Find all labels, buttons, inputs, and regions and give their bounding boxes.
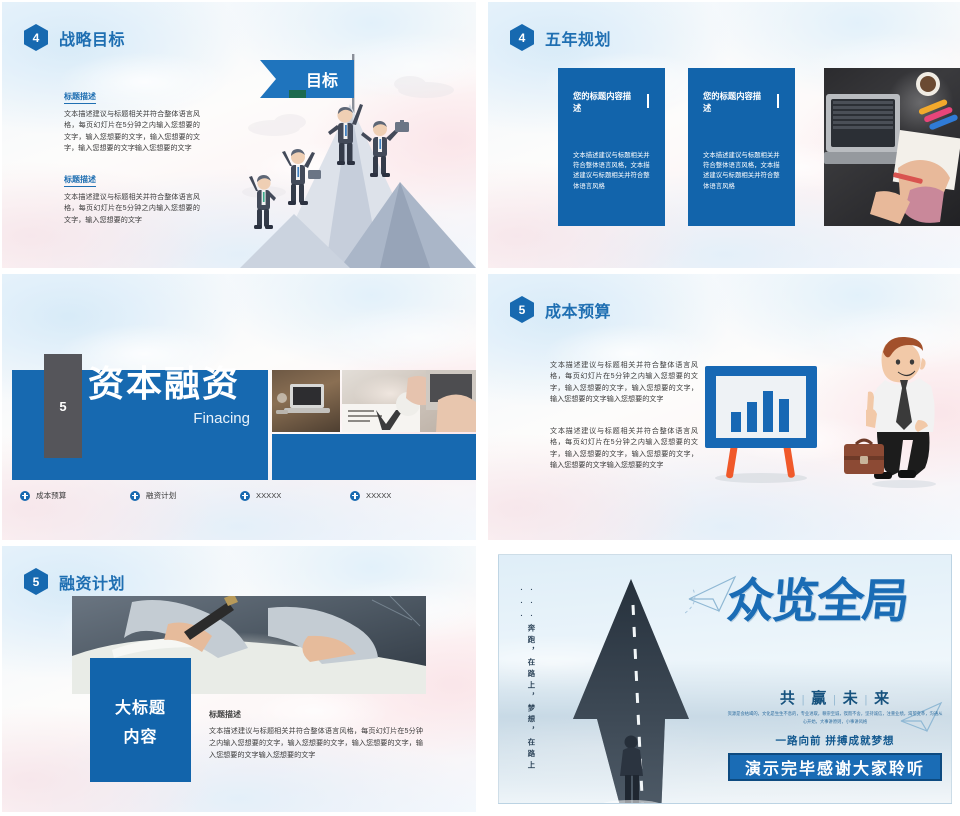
section-number-tab: 5 [44,354,82,458]
text-column: 标题描述 文本描述建议与标题相关并符合整体语言风格，每页幻灯片在5分钟之内输入您… [64,86,200,226]
card-title: 您的标题内容描述 [703,90,765,115]
page-title: 战略目标 [59,26,125,50]
slide-five-year-plan[interactable]: 4 五年规划 您的标题内容描述 文本描述建议与标题相关并符合整体语言风格，文本描… [488,2,960,268]
win-char-4: 来 [870,691,896,707]
page-title: 成本预算 [545,298,611,322]
plus-icon [350,491,360,501]
vertical-slogan: ···奔跑，在路上，梦想，在路上··· [517,585,537,781]
slide-header: 4 五年规划 [510,24,611,51]
fine-print: 资源是会枯竭的，文化是生生不息的，专业进取，尊崇至诚，锲而不舍，坚持诚信，注重业… [727,710,943,725]
nav-item-4[interactable]: XXXXX [350,490,460,501]
hexagon-number-badge: 4 [510,24,534,51]
desk-laptop-photo [824,68,960,226]
block-body: 文本描述建议与标题相关并符合整体语言风格，每页幻灯片在5分钟之内输入您想要的文字… [64,192,200,226]
slide-header: 5 融资计划 [24,568,125,595]
section-nav: 成本预算 融资计划 XXXXX XXXXX [20,490,460,501]
block-heading: 标题描述 [209,709,423,720]
easel-bar-chart-illustration [701,362,821,486]
win-char-2: 赢 [807,691,833,707]
section-band-secondary [272,434,476,480]
calligraphy-title: 众览全局 [727,579,943,685]
big-title-line2: 内容 [123,723,157,747]
nav-label: 融资计划 [146,490,176,501]
svg-text:目标: 目标 [306,72,338,90]
big-title-box: 大标题 内容 [90,658,191,782]
slide-frame: ···奔跑，在路上，梦想，在路上··· 众览全局 共|赢|未|来 资源是会枯竭的… [498,554,952,804]
hands-documents-photo [342,370,476,432]
paragraph: 文本描述建议与标题相关并符合整体语言风格，每页幻灯片在5分钟之内输入您想要的文字… [550,360,698,406]
slogan: 一路向前 拼搏成就梦想 [727,733,943,748]
page-title: 融资计划 [59,570,125,594]
slide-capital-financing[interactable]: 5 资本融资 Finacing [2,274,476,540]
page-title: 五年规划 [545,26,611,50]
nav-item-cost-budget[interactable]: 成本预算 [20,490,130,501]
win-future-row: 共|赢|未|来 [737,687,935,708]
slide-strategic-goal[interactable]: 4 战略目标 目标 [2,2,476,268]
paragraph: 文本描述建议与标题相关并符合整体语言风格，每页幻灯片在5分钟之内输入您想要的文字… [550,426,698,472]
win-char-1: 共 [776,691,802,707]
hexagon-number-badge: 5 [510,296,534,323]
plus-icon [130,491,140,501]
card-title: 您的标题内容描述 [573,90,635,115]
nav-item-3[interactable]: XXXXX [240,490,350,501]
card-body: 文本描述建议与标题相关并符合整体语言风格，文本描述建议与标题相关并符合整体语言风… [573,151,655,193]
laptop-photo [272,370,340,432]
hexagon-number-badge: 4 [24,24,48,51]
win-char-3: 未 [839,691,865,707]
content-card[interactable]: 您的标题内容描述 文本描述建议与标题相关并符合整体语言风格，文本描述建议与标题相… [688,68,795,226]
content-card[interactable]: 您的标题内容描述 文本描述建议与标题相关并符合整体语言风格，文本描述建议与标题相… [558,68,665,226]
calligraphy-text: 众览全局 [725,579,945,626]
section-title-cn: 资本融资 [88,366,240,402]
nav-label: XXXXX [256,491,281,500]
section-title-en: Finacing [88,410,250,427]
slide-header: 4 战略目标 [24,24,125,51]
hexagon-number-badge: 5 [24,568,48,595]
plus-icon [240,491,250,501]
text-column: 文本描述建议与标题相关并符合整体语言风格，每页幻灯片在5分钟之内输入您想要的文字… [550,360,698,472]
card-body: 文本描述建议与标题相关并符合整体语言风格，文本描述建议与标题相关并符合整体语言风… [703,151,785,193]
nav-item-financing-plan[interactable]: 融资计划 [130,490,240,501]
block-heading: 标题描述 [64,91,96,104]
nav-label: XXXXX [366,491,391,500]
big-title-line1: 大标题 [115,694,166,718]
slide-cost-budget[interactable]: 5 成本预算 文本描述建议与标题相关并符合整体语言风格，每页幻灯片在5分钟之内输… [488,274,960,540]
slide-financing-plan[interactable]: 5 融资计划 大标题 内容 标题描述 [2,546,476,812]
slide-thank-you[interactable]: ···奔跑，在路上，梦想，在路上··· 众览全局 共|赢|未|来 资源是会枯竭的… [488,546,960,812]
block-heading: 标题描述 [64,174,96,187]
mountain-climbers-illustration: 目标 [230,32,476,268]
nav-label: 成本预算 [36,490,66,501]
slide-deck-grid: 4 战略目标 目标 [0,0,960,816]
block-body: 文本描述建议与标题相关并符合整体语言风格，每页幻灯片在5分钟之内输入您想要的文字… [64,109,200,155]
text-column: 标题描述 文本描述建议与标题相关并符合整体语言风格，每页幻灯片在5分钟之内输入您… [209,709,423,761]
card-accent-bar [647,94,649,108]
text-block: 标题描述 文本描述建议与标题相关并符合整体语言风格，每页幻灯片在5分钟之内输入您… [64,86,200,155]
text-block: 标题描述 文本描述建议与标题相关并符合整体语言风格，每页幻灯片在5分钟之内输入您… [64,169,200,226]
slide-header: 5 成本预算 [510,296,611,323]
block-body: 文本描述建议与标题相关并符合整体语言风格，每页幻灯片在5分钟之内输入您想要的文字… [209,726,423,761]
thank-you-banner: 演示完毕感谢大家聆听 [728,753,942,781]
plus-icon [20,491,30,501]
businessman-illustration [838,334,952,490]
card-accent-bar [777,94,779,108]
